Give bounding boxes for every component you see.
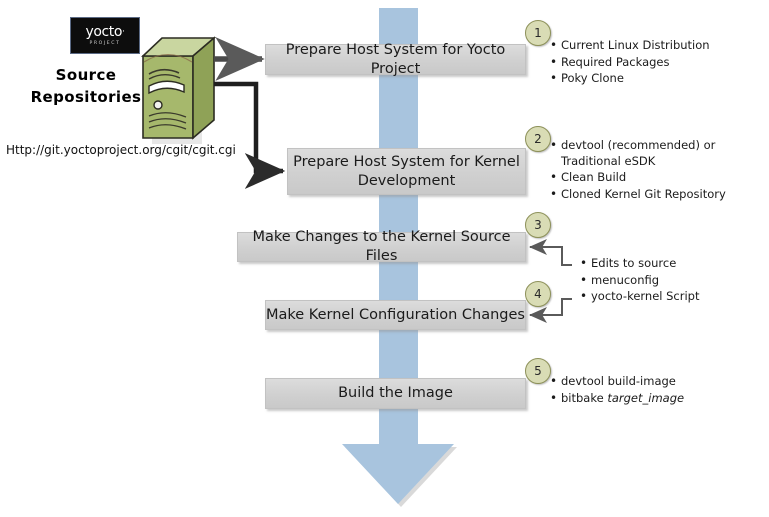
note-item: Cloned Kernel Git Repository [561,187,763,203]
step-notes-2: devtool (recommended) or Traditional eSD… [548,138,763,203]
note-item-emphasis: target_image [607,391,684,405]
note-item-text: bitbake [561,391,607,405]
source-repositories-label: Source Repositories [26,64,146,108]
shared-notes-steps-3-4: Edits to source menuconfig yocto-kernel … [578,256,758,306]
note-item: bitbake target_image [561,391,763,407]
step-box-make-kernel-source-changes[interactable]: Make Changes to the Kernel Source Files [237,232,526,262]
note-item: yocto-kernel Script [591,289,758,305]
step-notes-list: Current Linux Distribution Required Pack… [548,38,763,87]
step-notes-list: Edits to source menuconfig yocto-kernel … [578,256,758,305]
note-item: devtool build-image [561,374,763,390]
yocto-logo-dot: · [122,27,124,37]
step-notes-list: devtool build-image bitbake target_image [548,374,763,406]
yocto-project-logo: yocto· PROJECT [70,17,140,54]
step-badge-number: 2 [534,132,542,146]
step-box-make-kernel-config-changes[interactable]: Make Kernel Configuration Changes [265,300,526,330]
server-tower-icon [136,32,222,144]
step-badge-3: 3 [525,212,551,238]
step-notes-list: devtool (recommended) or Traditional eSD… [548,138,763,202]
step-box-label: Make Changes to the Kernel Source Files [238,228,525,266]
note-item: Edits to source [591,256,758,272]
step-badge-1: 1 [525,20,551,46]
yocto-logo-wordmark: yocto· [85,25,124,39]
step-badge-5: 5 [525,358,551,384]
step-notes-5: devtool build-image bitbake target_image [548,374,763,407]
note-item: Current Linux Distribution [561,38,763,54]
step-box-prepare-host-yocto[interactable]: Prepare Host System for Yocto Project [265,44,526,75]
step-box-build-the-image[interactable]: Build the Image [265,378,526,409]
step-badge-4: 4 [525,281,551,307]
step-badge-2: 2 [525,126,551,152]
yocto-logo-word-text: yocto [85,24,122,40]
flow-arrow-head-icon [342,444,454,504]
diagram-canvas: yocto· PROJECT Source [0,0,769,517]
step-box-label: Build the Image [338,384,453,403]
note-item: Clean Build [561,170,763,186]
source-repositories-url: Http://git.yoctoproject.org/cgit/cgit.cg… [6,143,236,157]
step-notes-1: Current Linux Distribution Required Pack… [548,38,763,88]
step-badge-number: 3 [534,218,542,232]
yocto-logo-subtitle: PROJECT [89,40,120,47]
step-badge-number: 1 [534,26,542,40]
note-item: devtool (recommended) or Traditional eSD… [561,138,763,169]
step-box-label: Prepare Host System for Kernel Developme… [288,153,525,191]
note-item: Poky Clone [561,71,763,87]
note-item: Required Packages [561,55,763,71]
step-badge-number: 5 [534,364,542,378]
step-badge-number: 4 [534,287,542,301]
step-box-label: Prepare Host System for Yocto Project [266,41,525,79]
step-box-label: Make Kernel Configuration Changes [266,306,525,325]
step-box-prepare-host-kernel[interactable]: Prepare Host System for Kernel Developme… [287,148,526,195]
note-item: menuconfig [591,273,758,289]
